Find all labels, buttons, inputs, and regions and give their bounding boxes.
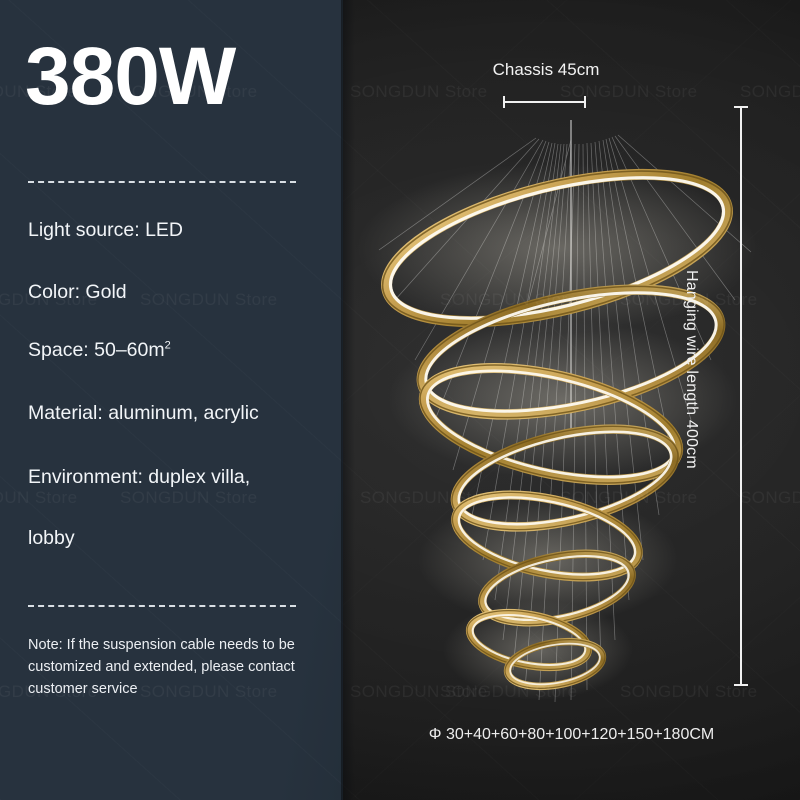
chandelier-illustration (343, 0, 800, 800)
hanging-wire-dimension-bar (734, 106, 748, 686)
ring-diameters-label: Φ 30+40+60+80+100+120+150+180CM (343, 726, 800, 744)
product-image-stage: SONGDUN Store SONGDUN Store SONGDUN Stor… (0, 0, 800, 800)
panel-edge-shadow (341, 0, 355, 800)
dimension-tick-bottom (734, 684, 748, 686)
spec-space-superscript: 2 (165, 340, 171, 352)
power-rating-title: 380W (25, 36, 235, 118)
divider-bottom (28, 605, 296, 607)
spec-material: Material: aluminum, acrylic (28, 402, 259, 425)
spec-space-text: Space: 50–60m (28, 339, 165, 361)
chassis-dimension-label: Chassis 45cm (481, 60, 611, 80)
divider-top (28, 181, 296, 183)
chassis-dimension-bar (503, 96, 586, 108)
dimension-tick-right (584, 96, 586, 108)
chandelier-svg (343, 0, 800, 800)
spec-environment: Environment: duplex villa, (28, 466, 250, 489)
dimension-bar-line (503, 101, 586, 103)
watermark: SONGDUN Store (0, 488, 77, 508)
spec-color: Color: Gold (28, 281, 127, 304)
dimension-bar-line-vertical (740, 106, 742, 686)
hanging-wire-length-label: Hanging wire length 400cm (682, 270, 700, 469)
spec-light-source: Light source: LED (28, 219, 183, 242)
dimension-tick-top (734, 106, 748, 108)
spec-space: Space: 50–60m2 (28, 339, 171, 362)
watermark: SONGDUN Store (120, 488, 257, 508)
customization-note: Note: If the suspension cable needs to b… (28, 634, 314, 700)
spec-environment-line2: lobby (28, 527, 75, 550)
dimension-tick-left (503, 96, 505, 108)
watermark: SONGDUN Store (140, 290, 277, 310)
